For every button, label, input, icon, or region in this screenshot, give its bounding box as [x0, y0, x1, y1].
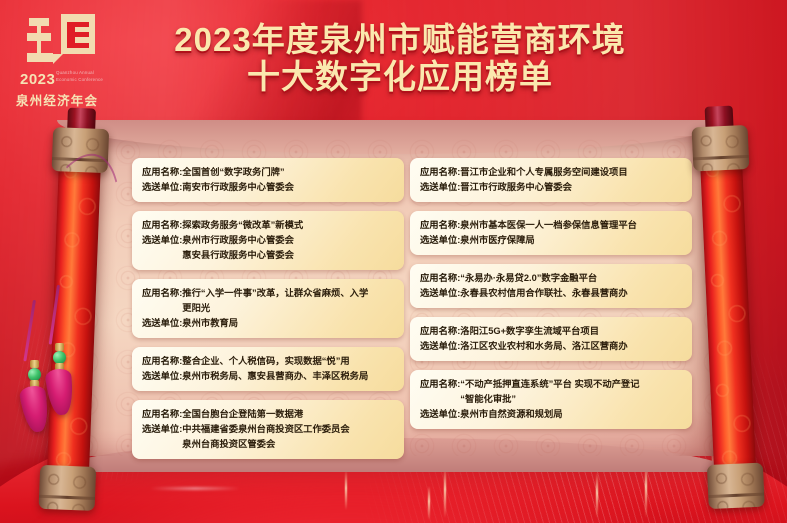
unit-label: 选送单位:	[420, 286, 460, 300]
award-row: 选送单位:永春县农村信用合作联社、永春县营商办	[420, 286, 682, 300]
award-card[interactable]: 应用名称:洛阳江5G+数字孪生流域平台项目选送单位:洛江区农业农村和水务局、洛江…	[410, 317, 692, 361]
unit-label: 选送单位:	[420, 180, 460, 194]
award-row: 选送单位:中共福建省委泉州台商投资区工作委员会	[142, 422, 394, 436]
award-row: 选送单位:泉州市教育局	[142, 316, 394, 330]
award-row: 应用名称:探索政务服务“微改革”新模式	[142, 218, 394, 232]
unit-value: 泉州市行政服务中心管委会	[182, 233, 294, 247]
award-card[interactable]: 应用名称:“不动产抵押直连系统”平台 实现不动产登记应用名称:“智能化审批”选送…	[410, 370, 692, 429]
unit-label: 选送单位:	[420, 339, 460, 353]
award-card[interactable]: 应用名称:全国首创“数字政务门牌”选送单位:南安市行政服务中心管委会	[132, 158, 404, 202]
roller-rod	[700, 151, 757, 477]
unit-value: 洛江区农业农村和水务局、洛江区营商办	[460, 339, 627, 353]
app-name-value: 全国台胞台企登陆第一数据港	[182, 407, 303, 421]
award-card[interactable]: 应用名称:晋江市企业和个人专属服务空间建设项目选送单位:晋江市行政服务中心管委会	[410, 158, 692, 202]
app-name-label: 应用名称:	[420, 324, 460, 338]
award-row: 选送单位:泉州市医疗保障局	[420, 233, 682, 247]
award-card[interactable]: 应用名称:探索政务服务“微改革”新模式选送单位:泉州市行政服务中心管委会选送单位…	[132, 211, 404, 270]
award-row: 应用名称:“不动产抵押直连系统”平台 实现不动产登记	[420, 377, 682, 391]
award-column-left: 应用名称:全国首创“数字政务门牌”选送单位:南安市行政服务中心管委会应用名称:探…	[132, 158, 404, 468]
award-row: 应用名称:泉州市基本医保一人一档参保信息管理平台	[420, 218, 682, 232]
award-card[interactable]: 应用名称:泉州市基本医保一人一档参保信息管理平台选送单位:泉州市医疗保障局	[410, 211, 692, 255]
app-name-label: 应用名称:	[142, 354, 182, 368]
app-name-value: “不动产抵押直连系统”平台 实现不动产登记	[460, 377, 639, 391]
unit-value: 泉州市税务局、惠安县营商办、丰泽区税务局	[182, 369, 368, 383]
logo-chinese-name: 泉州经济年会	[16, 90, 98, 109]
title-line-1: 2023年度泉州市赋能营商环境	[110, 22, 690, 59]
light-spark	[345, 470, 347, 510]
award-row: 应用名称:更阳光	[142, 301, 394, 315]
award-row: 选送单位:泉州市税务局、惠安县营商办、丰泽区税务局	[142, 369, 394, 383]
unit-value: 泉州市教育局	[182, 316, 238, 330]
unit-label: 选送单位:	[420, 407, 460, 421]
app-name-value: 探索政务服务“微改革”新模式	[182, 218, 303, 232]
unit-label: 选送单位:	[142, 369, 182, 383]
light-spark	[596, 472, 598, 518]
page-title: 2023年度泉州市赋能营商环境 十大数字化应用榜单	[110, 22, 690, 96]
app-name-label: 应用名称:	[420, 218, 460, 232]
unit-value: 中共福建省委泉州台商投资区工作委员会	[182, 422, 349, 436]
award-row: 应用名称:全国首创“数字政务门牌”	[142, 165, 394, 179]
unit-value: 泉州台商投资区管委会	[182, 437, 275, 451]
logo-mark-icon	[23, 12, 97, 68]
roller-cap-bottom	[39, 465, 97, 511]
scroll-paper: 应用名称:全国首创“数字政务门牌”选送单位:南安市行政服务中心管委会应用名称:探…	[70, 136, 718, 456]
award-card[interactable]: 应用名称:推行“入学一件事”改革，让群众省麻烦、入学应用名称:更阳光选送单位:泉…	[132, 279, 404, 338]
award-list: 应用名称:全国首创“数字政务门牌”选送单位:南安市行政服务中心管委会应用名称:探…	[70, 136, 718, 456]
award-row: 应用名称:全国台胞台企登陆第一数据港	[142, 407, 394, 421]
award-row: 应用名称:洛阳江5G+数字孪生流域平台项目	[420, 324, 682, 338]
app-name-value: 晋江市企业和个人专属服务空间建设项目	[460, 165, 627, 179]
app-name-value: 泉州市基本医保一人一档参保信息管理平台	[460, 218, 637, 232]
light-streak	[150, 487, 240, 490]
unit-value: 惠安县行政服务中心管委会	[182, 248, 294, 262]
award-card[interactable]: 应用名称:整合企业、个人税信码，实现数据“悦”用选送单位:泉州市税务局、惠安县营…	[132, 347, 404, 391]
award-row: 应用名称:推行“入学一件事”改革，让群众省麻烦、入学	[142, 286, 394, 300]
conference-logo: 2023 Quanzhou Annual Economic Conference…	[14, 12, 106, 112]
unit-label: 选送单位:	[142, 180, 182, 194]
unit-value: 永春县农村信用合作联社、永春县营商办	[460, 286, 627, 300]
app-name-value: 推行“入学一件事”改革，让群众省麻烦、入学	[182, 286, 368, 300]
app-name-label: 应用名称:	[142, 407, 182, 421]
award-row: 选送单位:惠安县行政服务中心管委会	[142, 248, 394, 262]
unit-label: 选送单位:	[142, 316, 182, 330]
app-name-value: 洛阳江5G+数字孪生流域平台项目	[460, 324, 599, 338]
award-row: 选送单位:南安市行政服务中心管委会	[142, 180, 394, 194]
unit-label: 选送单位:	[420, 233, 460, 247]
roller-cap-bottom	[707, 463, 765, 509]
award-row: 选送单位:泉州市自然资源和规划局	[420, 407, 682, 421]
light-spark	[428, 486, 430, 520]
app-name-label: 应用名称:	[142, 218, 182, 232]
award-row: 应用名称:“永易办·永易贷2.0”数字金融平台	[420, 271, 682, 285]
logo-english-name: Quanzhou Annual Economic Conference	[56, 70, 108, 83]
app-name-label: 应用名称:	[420, 271, 460, 285]
tassel-cuff	[55, 343, 64, 351]
award-row: 选送单位:洛江区农业农村和水务局、洛江区营商办	[420, 339, 682, 353]
unit-label: 选送单位:	[142, 422, 182, 436]
award-row: 选送单位:晋江市行政服务中心管委会	[420, 180, 682, 194]
poster-canvas: 2023 Quanzhou Annual Economic Conference…	[0, 0, 787, 523]
award-row: 选送单位:泉州台商投资区管委会	[142, 437, 394, 451]
app-name-label: 应用名称:	[142, 165, 182, 179]
light-spark	[444, 466, 446, 518]
award-card[interactable]: 应用名称:“永易办·永易贷2.0”数字金融平台选送单位:永春县农村信用合作联社、…	[410, 264, 692, 308]
unit-value: 晋江市行政服务中心管委会	[460, 180, 572, 194]
app-name-value: 全国首创“数字政务门牌”	[182, 165, 284, 179]
app-name-value-cont: 更阳光	[182, 301, 210, 315]
unit-value: 泉州市自然资源和规划局	[460, 407, 562, 421]
unit-value: 泉州市医疗保障局	[460, 233, 534, 247]
unit-value: 南安市行政服务中心管委会	[182, 180, 294, 194]
award-row: 应用名称:“智能化审批”	[420, 392, 682, 406]
logo-year: 2023	[20, 72, 55, 87]
award-row: 应用名称:晋江市企业和个人专属服务空间建设项目	[420, 165, 682, 179]
title-line-2: 十大数字化应用榜单	[110, 59, 690, 96]
award-card[interactable]: 应用名称:全国台胞台企登陆第一数据港选送单位:中共福建省委泉州台商投资区工作委员…	[132, 400, 404, 459]
app-name-label: 应用名称:	[420, 165, 460, 179]
tassel-cuff	[30, 360, 39, 368]
award-row: 选送单位:泉州市行政服务中心管委会	[142, 233, 394, 247]
unit-label: 选送单位:	[142, 233, 182, 247]
roller-cap-top	[692, 125, 750, 171]
app-name-value-cont: “智能化审批”	[460, 392, 516, 406]
app-name-value: 整合企业、个人税信码，实现数据“悦”用	[182, 354, 349, 368]
award-row: 应用名称:整合企业、个人税信码，实现数据“悦”用	[142, 354, 394, 368]
award-column-right: 应用名称:晋江市企业和个人专属服务空间建设项目选送单位:晋江市行政服务中心管委会…	[410, 158, 692, 438]
app-name-label: 应用名称:	[420, 377, 460, 391]
app-name-label: 应用名称:	[142, 286, 182, 300]
app-name-value: “永易办·永易贷2.0”数字金融平台	[460, 271, 597, 285]
